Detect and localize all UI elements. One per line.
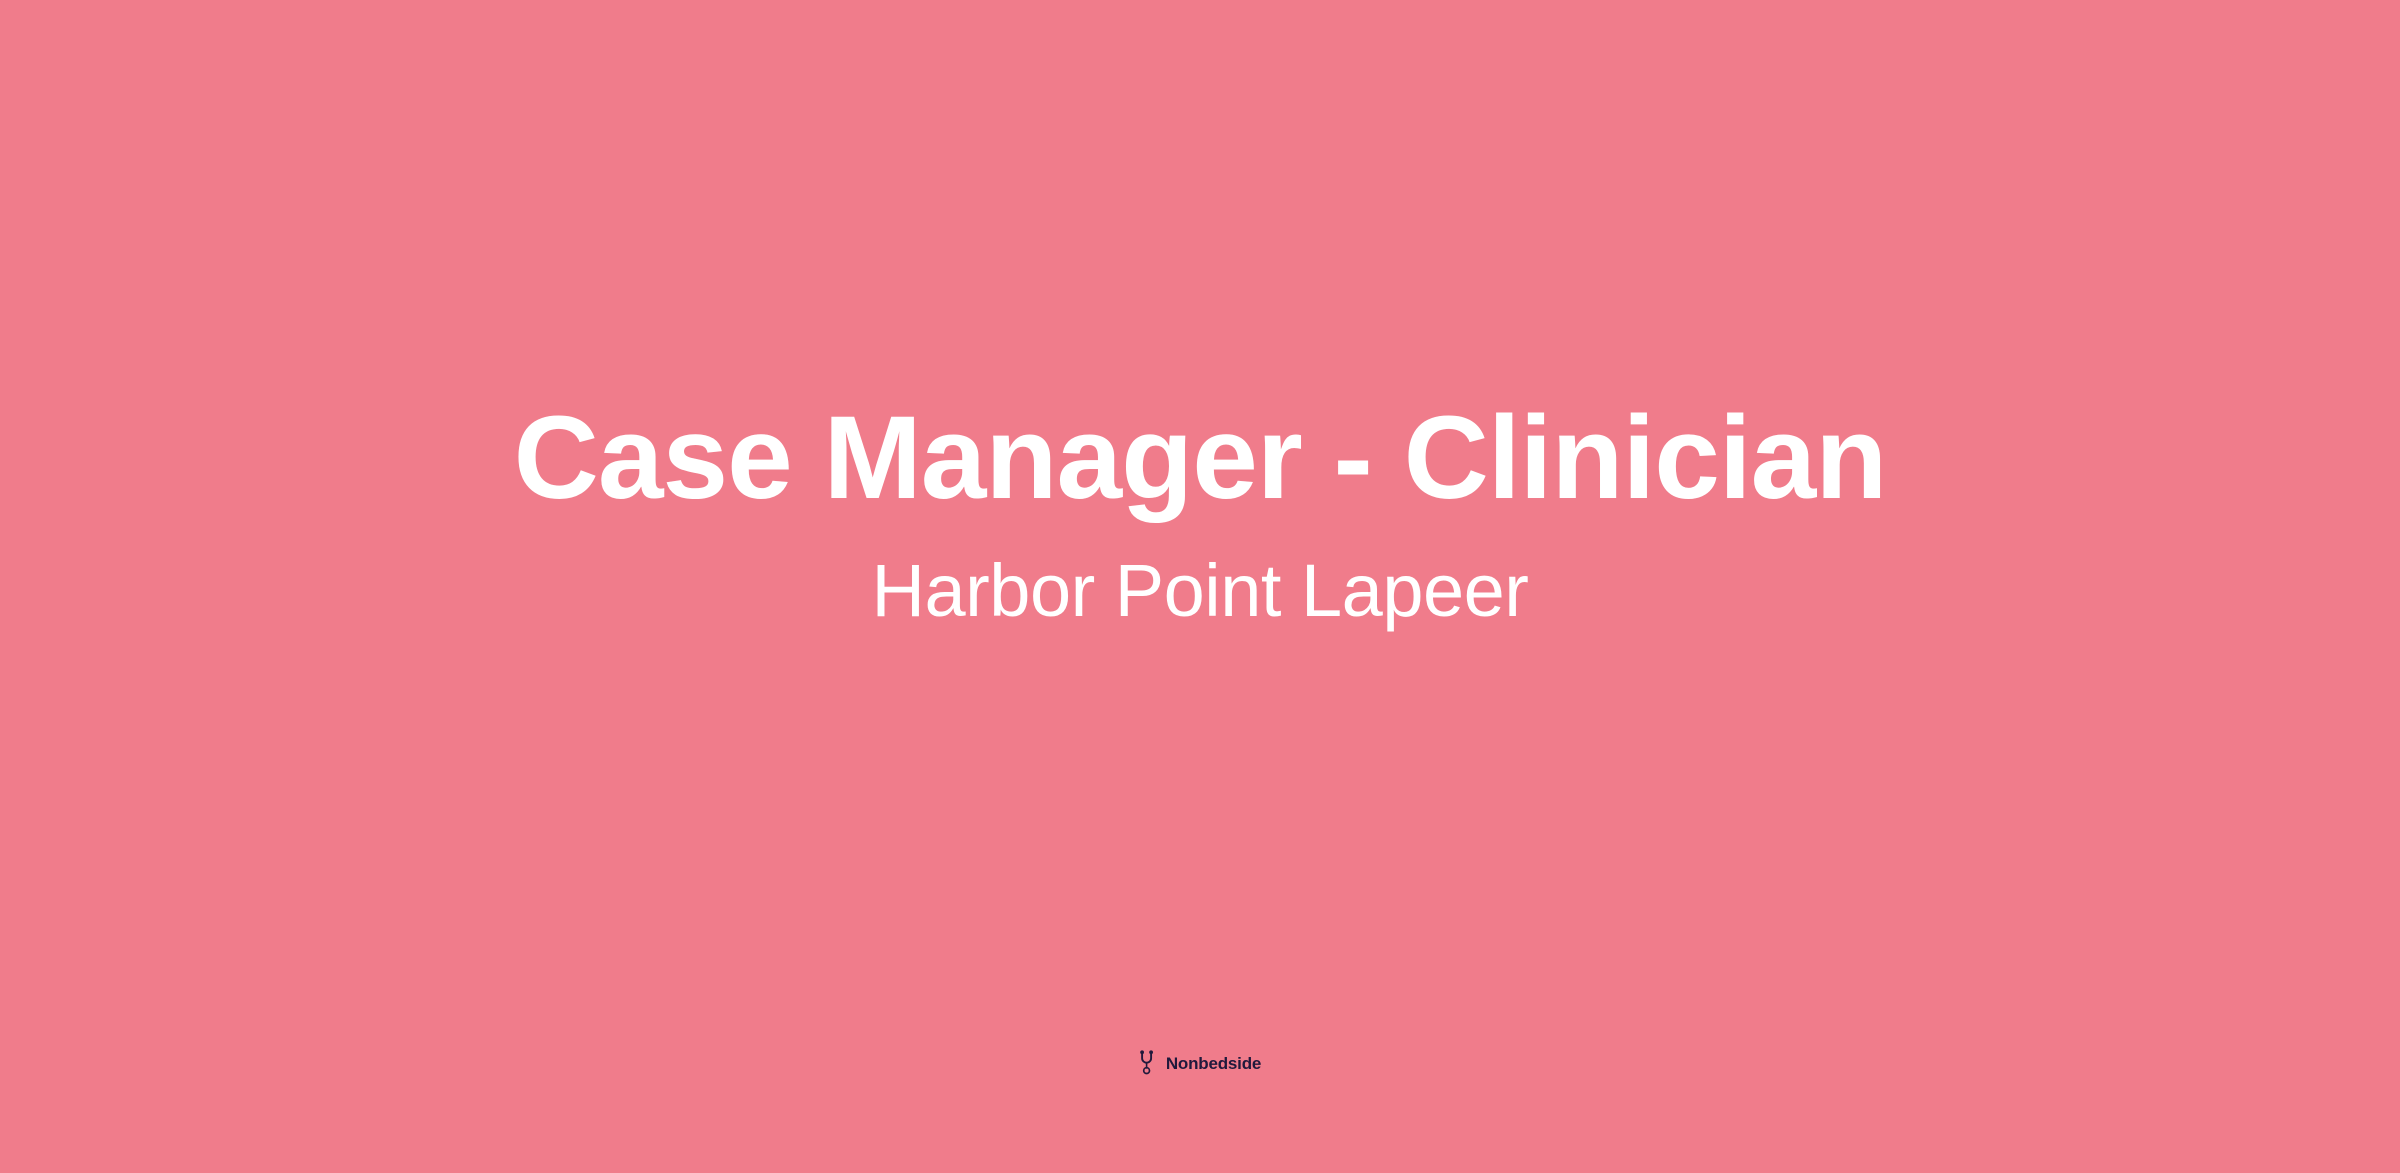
hero-text-block: Case Manager - Clinician Harbor Point La… [0, 395, 2400, 633]
page-title: Case Manager - Clinician [514, 395, 1887, 522]
brand-name: Nonbedside [1166, 1055, 1261, 1072]
brand-lockup: Nonbedside [0, 1050, 2400, 1076]
stethoscope-icon [1139, 1050, 1159, 1076]
page-subtitle: Harbor Point Lapeer [872, 550, 1529, 633]
slide-canvas: Case Manager - Clinician Harbor Point La… [0, 0, 2400, 1173]
